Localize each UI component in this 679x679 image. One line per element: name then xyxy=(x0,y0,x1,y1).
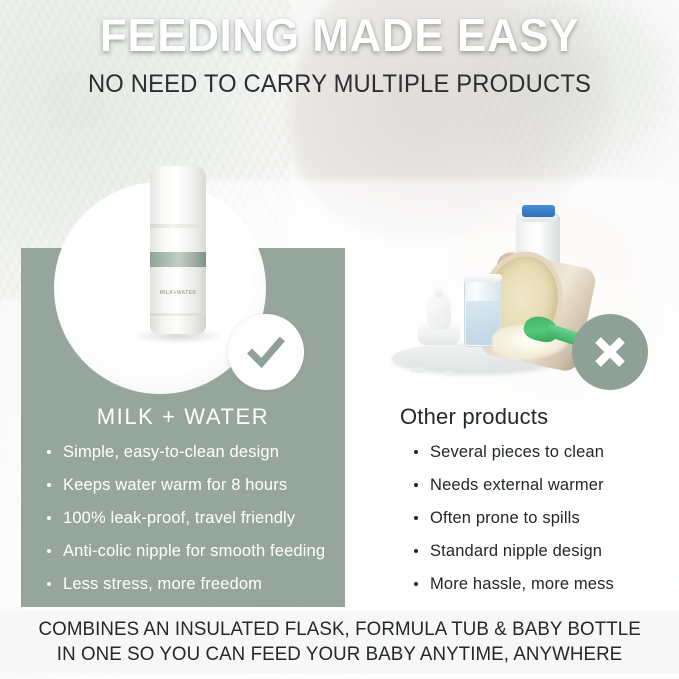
cross-badge xyxy=(572,314,648,390)
page-subtitle: NO NEED TO CARRY MULTIPLE PRODUCTS xyxy=(17,72,662,97)
list-item: Anti-colic nipple for smooth feeding xyxy=(45,541,325,561)
footer-line-1: COMBINES AN INSULATED FLASK, FORMULA TUB… xyxy=(38,617,640,642)
flask-brand-label: MILK+WATER xyxy=(150,290,206,296)
footer-band: COMBINES AN INSULATED FLASK, FORMULA TUB… xyxy=(0,611,679,673)
bad-feature-list: Several pieces to clean Needs external w… xyxy=(412,442,614,607)
list-item: Often prone to spills xyxy=(412,508,614,528)
list-item: Simple, easy-to-clean design xyxy=(45,442,325,462)
blue-bottle-cap xyxy=(522,205,555,217)
flask-cap-section xyxy=(150,166,206,226)
flask-middle-section xyxy=(150,228,206,254)
list-item: Standard nipple design xyxy=(412,541,614,561)
milk-water-flask-product: MILK+WATER xyxy=(150,166,206,334)
good-column-title: MILK + WATER xyxy=(21,404,345,430)
good-feature-list: Simple, easy-to-clean design Keeps water… xyxy=(45,442,325,607)
bad-column-title: Other products xyxy=(400,404,640,430)
graduated-bottle-ring xyxy=(464,274,502,282)
list-item: 100% leak-proof, travel friendly xyxy=(45,508,325,528)
list-item: Several pieces to clean xyxy=(412,442,614,462)
bottle-nipple-tip xyxy=(435,285,443,297)
check-badge xyxy=(228,314,304,390)
cross-icon xyxy=(590,332,630,372)
list-item: Needs external warmer xyxy=(412,475,614,495)
page-title: FEEDING MADE EASY xyxy=(14,12,666,58)
list-item: More hassle, more mess xyxy=(412,574,614,594)
check-icon xyxy=(244,330,288,374)
list-item: Less stress, more freedom xyxy=(45,574,325,594)
product-infographic: FEEDING MADE EASY NO NEED TO CARRY MULTI… xyxy=(0,0,679,679)
list-item: Keeps water warm for 8 hours xyxy=(45,475,325,495)
footer-line-2: IN ONE SO YOU CAN FEED YOUR BABY ANYTIME… xyxy=(57,642,623,667)
powder-crumb xyxy=(410,367,426,373)
powder-crumb xyxy=(444,371,454,376)
flask-sage-band xyxy=(150,252,206,268)
flask-base-section xyxy=(150,316,206,334)
